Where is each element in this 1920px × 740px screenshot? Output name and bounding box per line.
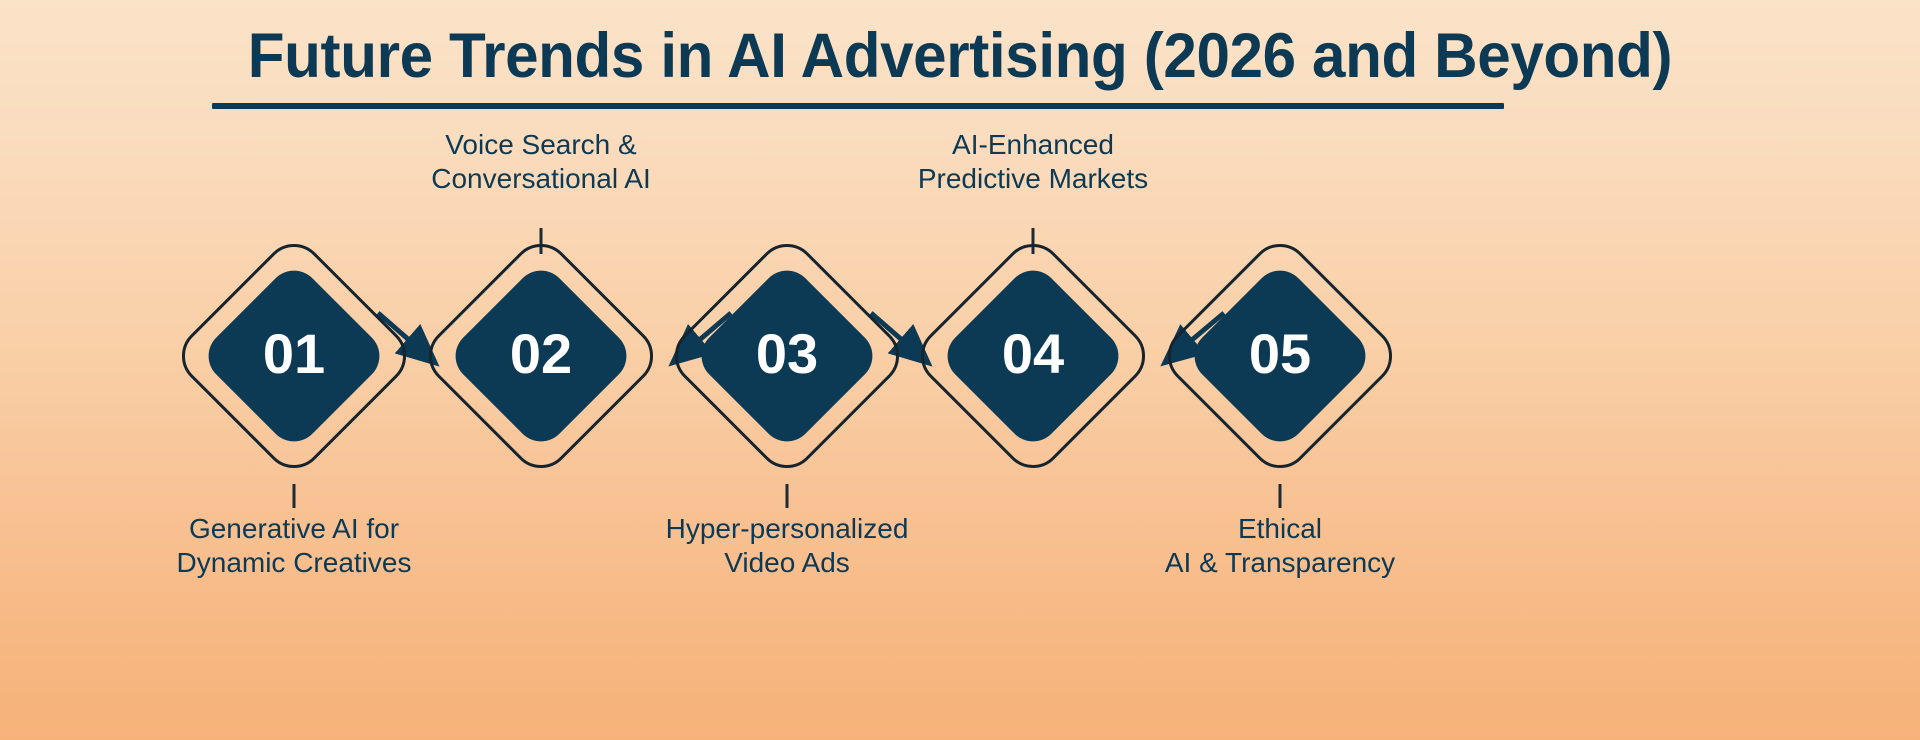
step-number-04: 04 (953, 324, 1113, 384)
step-number-01: 01 (214, 324, 374, 384)
step-number-03: 03 (707, 324, 867, 384)
step-label-04: AI-Enhanced Predictive Markets (918, 128, 1148, 196)
step-label-03: Hyper-personalized Video Ads (666, 512, 909, 580)
process-flow-diagram: 0102030405 Generative AI for Dynamic Cre… (0, 0, 1920, 740)
infographic-canvas: Future Trends in AI Advertising (2026 an… (0, 0, 1920, 740)
step-label-01: Generative AI for Dynamic Creatives (177, 512, 412, 580)
step-number-05: 05 (1200, 324, 1360, 384)
step-label-02: Voice Search & Conversational AI (431, 128, 650, 196)
step-label-05: Ethical AI & Transparency (1165, 512, 1395, 580)
step-number-02: 02 (461, 324, 621, 384)
